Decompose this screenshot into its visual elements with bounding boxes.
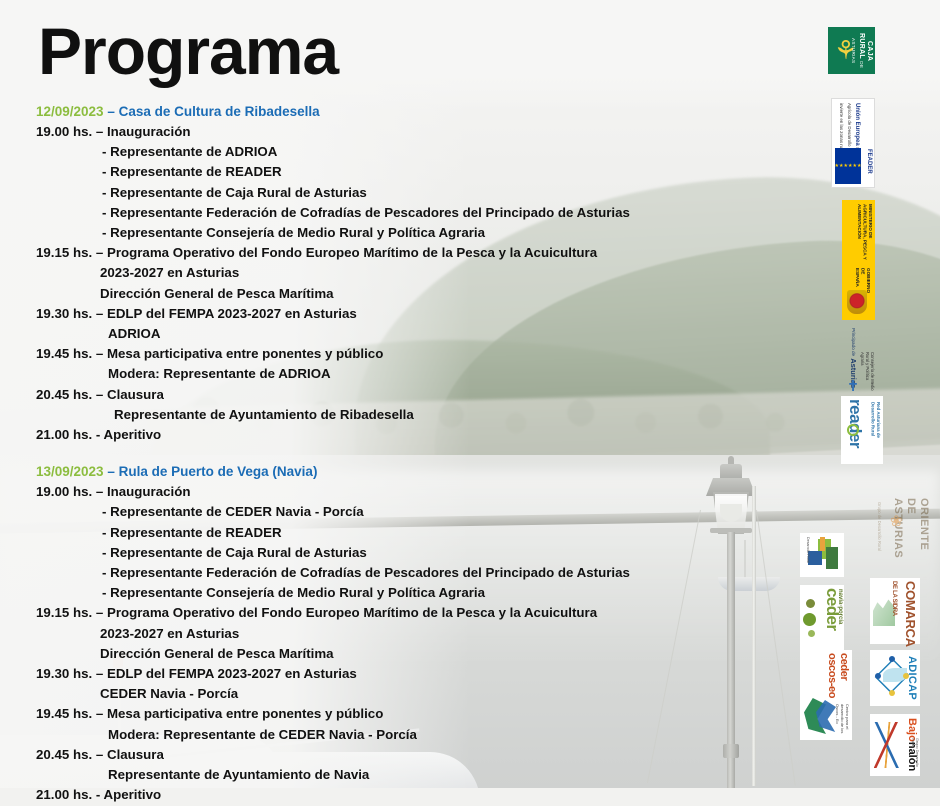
schedule-line: 19.45 hs. – Mesa participativa entre pon… — [36, 704, 736, 724]
schedule-line: Dirección General de Pesca Marítima — [36, 644, 736, 664]
schedule-line: - Representante Federación de Cofradías … — [36, 203, 736, 223]
schedule-line: - Representante de CEDER Navia - Porcía — [36, 502, 736, 522]
ceder-dot-1-icon — [806, 599, 815, 608]
schedule-line: - Representante de ADRIOA — [36, 142, 736, 162]
logo-comarca-de-la-sidra: COMARCA DE LA SIDRA — [870, 578, 920, 644]
nalon-strokes-icon — [874, 722, 900, 768]
logo-caja-rural: ⚘ CAJA RURAL DE ASTURIAS — [828, 27, 875, 74]
logo-gdr-label: Desarrollo Rural — [802, 537, 810, 573]
logo-oriente-sub: Grupo de Desarrollo Rural — [868, 502, 882, 556]
day-separator — [36, 445, 736, 464]
schedule-line: Representante de Ayuntamiento de Ribades… — [36, 405, 736, 425]
day-2-dash: – — [107, 464, 115, 479]
schedule-line: 19.45 hs. – Mesa participativa entre pon… — [36, 344, 736, 364]
logo-principado-asturias: Principado de Asturias Consejería de Med… — [840, 326, 876, 398]
ceder-dot-2-icon — [803, 613, 816, 626]
poster-content: Programa 12/09/2023 – Casa de Cultura de… — [0, 0, 940, 788]
logo-sidra-text: COMARCA DE LA SIDRA — [894, 581, 918, 641]
logo-caja-rural-main: CAJA RURAL — [858, 33, 873, 61]
schedule-line: - Representante de READER — [36, 162, 736, 182]
day-1-date: 12/09/2023 — [36, 104, 104, 119]
logo-grupo-desarrollo-rural: Desarrollo Rural — [800, 533, 844, 577]
schedule-line: 19.00 hs. – Inauguración — [36, 482, 736, 502]
schedule-line: Modera: Representante de ADRIOA — [36, 364, 736, 384]
schedule-line: Dirección General de Pesca Marítima — [36, 284, 736, 304]
schedule-line: - Representante Consejería de Medio Rura… — [36, 583, 736, 603]
schedule-line: - Representante de Caja Rural de Asturia… — [36, 183, 736, 203]
schedule-line: 20.45 hs. – Clausura — [36, 385, 736, 405]
eu-flag-icon: ★★★★★★ — [835, 148, 861, 184]
day-2-venue: Rula de Puerto de Vega (Navia) — [119, 464, 318, 479]
schedule-line: - Representante de Caja Rural de Asturia… — [36, 543, 736, 563]
logo-sidra-main: COMARCA — [903, 581, 918, 647]
logo-square-darkgreen — [826, 547, 838, 569]
leaf-icon: ❀ — [890, 512, 910, 532]
logo-sidra-sub: DE LA SIDRA — [891, 581, 897, 616]
logo-oriente-asturias: ORIENTE DE ASTURIAS Grupo de Desarrollo … — [866, 496, 932, 562]
logo-feader-label: FEADER — [861, 149, 872, 183]
logo-ue-main: Unión Europea — [854, 103, 860, 146]
eu-stars-icon: ★★★★★★ — [835, 148, 861, 184]
logo-bajo-nalon: Bajonalón Grupo Desarrollo Rural — [870, 714, 920, 776]
schedule-line: - Representante Federación de Cofradías … — [36, 563, 736, 583]
logo-union-europea-feader: Unión Europea Fondo Europeo Agrícola de … — [831, 98, 875, 188]
schedule-line: CEDER Navia - Porcía — [36, 684, 736, 704]
logo-reader-sub: Red Asturiana de Desarrollo Rural — [869, 402, 881, 458]
logo-square-blue — [808, 551, 822, 565]
schedule-line: ADRIOA — [36, 324, 736, 344]
page-title: Programa — [38, 18, 338, 84]
logo-reader: reader Red Asturiana de Desarrollo Rural — [841, 396, 883, 464]
logo-adicap: ADICAP — [870, 650, 920, 706]
day-1-venue: Casa de Cultura de Ribadesella — [119, 104, 320, 119]
logo-asturias-pre: Principado de — [851, 328, 856, 356]
logo-ministerio-main: MINISTERIO DE AGRICULTURA, PESCA Y ALIME… — [857, 204, 873, 264]
schedule-line: 21.00 hs. - Aperitivo — [36, 425, 736, 445]
program-day-2: 13/09/2023 – Rula de Puerto de Vega (Nav… — [36, 464, 736, 805]
adicap-node-bottom-icon — [889, 690, 895, 696]
schedule-line: - Representante de READER — [36, 523, 736, 543]
logo-ceder-oscos-eo: ceder oscos-eo Centro para el desarrollo… — [800, 650, 852, 740]
schedule-line: 2023-2027 en Asturias — [36, 263, 736, 283]
logo-caja-rural-text: CAJA RURAL DE ASTURIAS — [858, 31, 873, 71]
schedule-line: 21.00 hs. - Aperitivo — [36, 785, 736, 805]
logo-oriente-main: ORIENTE DE ASTURIAS — [908, 498, 930, 560]
schedule-line: 19.30 hs. – EDLP del FEMPA 2023-2027 en … — [36, 664, 736, 684]
schedule-line: Representante de Ayuntamiento de Navia — [36, 765, 736, 785]
logo-ceder-navia-porcia: ceder navia·porcía — [800, 585, 844, 653]
logo-nalon-sub: Grupo Desarrollo Rural — [910, 738, 919, 772]
schedule-line: 19.15 hs. – Programa Operativo del Fondo… — [36, 243, 736, 263]
day-2-date: 13/09/2023 — [36, 464, 104, 479]
adicap-node-top-icon — [889, 656, 895, 662]
spain-coat-of-arms-icon — [847, 290, 867, 314]
schedule-line: Modera: Representante de CEDER Navia - P… — [36, 725, 736, 745]
day-1-header: 12/09/2023 – Casa de Cultura de Ribadese… — [36, 104, 736, 119]
schedule-line: 19.30 hs. – EDLP del FEMPA 2023-2027 en … — [36, 304, 736, 324]
schedule-line: 20.45 hs. – Clausura — [36, 745, 736, 765]
logo-oscos-main: ceder oscos-eo — [830, 653, 850, 703]
day-1-dash: – — [107, 104, 115, 119]
reader-circle-icon — [847, 424, 859, 436]
program-day-1: 12/09/2023 – Casa de Cultura de Ribadese… — [36, 104, 736, 445]
logo-square-orange — [820, 537, 825, 551]
program-schedule: 12/09/2023 – Casa de Cultura de Ribadese… — [36, 104, 736, 806]
adicap-node-left-icon — [875, 673, 881, 679]
logo-ceder-np-sub: navia·porcía — [833, 589, 843, 629]
schedule-line: 2023-2027 en Asturias — [36, 624, 736, 644]
cruz-de-la-victoria-icon: ✝ — [843, 378, 863, 396]
logo-adicap-main: ADICAP — [904, 656, 918, 702]
schedule-line: - Representante Consejería de Medio Rura… — [36, 223, 736, 243]
logo-ministerio-agricultura: MINISTERIO DE AGRICULTURA, PESCA Y ALIME… — [842, 200, 875, 320]
schedule-line: 19.15 hs. – Programa Operativo del Fondo… — [36, 603, 736, 623]
logo-asturias-sub: Consejería de Medio Rural y Política Agr… — [865, 352, 875, 394]
day-2-header: 13/09/2023 – Rula de Puerto de Vega (Nav… — [36, 464, 736, 479]
schedule-line: 19.00 hs. – Inauguración — [36, 122, 736, 142]
ceder-dot-3-icon — [808, 630, 815, 637]
